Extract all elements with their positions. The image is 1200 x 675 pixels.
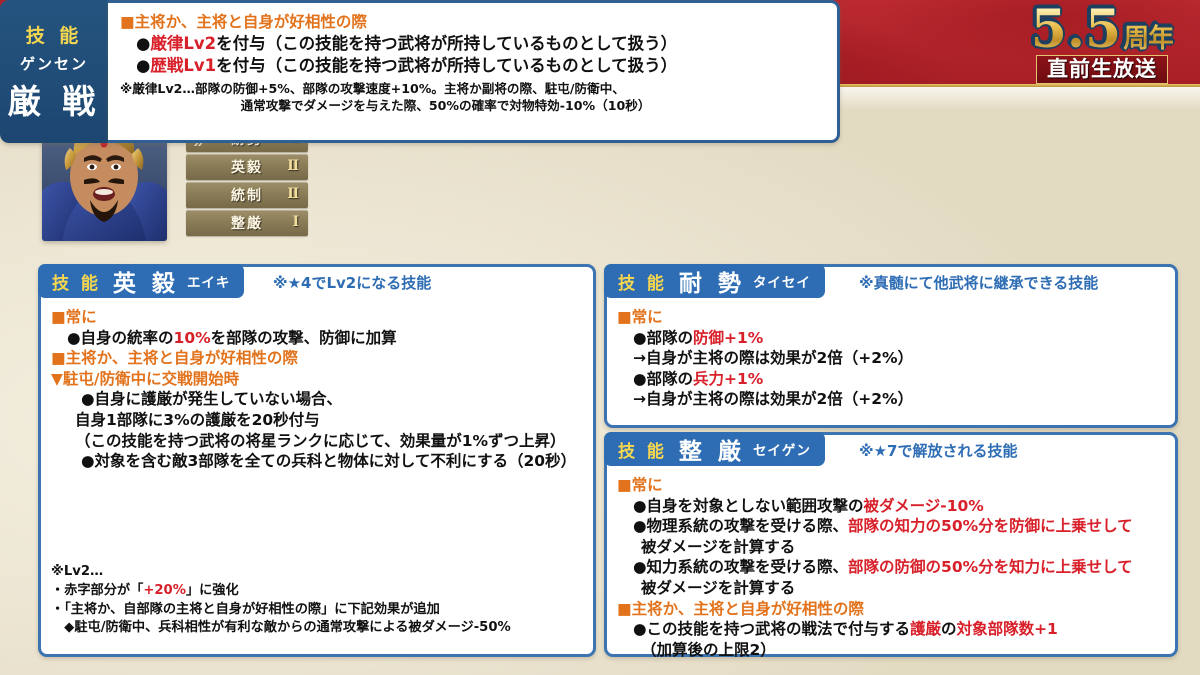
eiki-line-5: 自身1部隊に3%の護厳を20秒付与	[51, 410, 585, 431]
eiki-head: 技 能 英 毅 エイキ	[38, 264, 244, 298]
text-run: 被ダメージを計算する	[641, 579, 795, 597]
panel-taisei: 技 能 耐 勢 タイセイ ※真髄にて他武将に継承できる技能 ■常に●部隊の防御+…	[604, 264, 1178, 428]
text-run: →自身が主将の際は効果が2倍（+2%）	[633, 349, 913, 367]
text-run: ●この技能を持つ武将の戦法で付与する	[633, 620, 910, 638]
gensen-line-1: ●厳律Lv2を付与（この技能を持つ武将が所持しているものとして扱う）	[120, 33, 827, 55]
skill-level: Ⅰ	[292, 214, 300, 230]
gensen-tab-label: 技 能	[26, 21, 83, 48]
eiki-head-name: 英 毅	[113, 264, 179, 298]
panel-eiki: 技 能 英 毅 エイキ ※★4でLv2になる技能 ■常に●自身の統率の10%を部…	[38, 264, 596, 657]
text-run: ・赤字部分が「	[51, 583, 143, 598]
text-run: の	[941, 620, 957, 638]
skill-level: Ⅱ	[287, 158, 300, 174]
text-run: 自身1部隊に3%の護厳を20秒付与	[75, 411, 320, 429]
seigen-body: ■常に●自身を対象としない範囲攻撃の被ダメージ-10%●物理系統の攻撃を受ける際…	[607, 471, 1175, 660]
skill-name: 統制	[231, 185, 263, 205]
text-run: ●自身の統率の	[67, 329, 174, 347]
skill-row-5[interactable]: 整厳Ⅰ	[186, 210, 308, 236]
text-run: 被ダメージを計算する	[641, 538, 795, 556]
eiki-line-6: （この技能を持つ武将の将星ランクに応じて、効果量が1%ずつ上昇）	[51, 431, 585, 452]
text-run: ●対象を含む敵3部隊を全ての兵科と物体に対して不利にする（20秒）	[81, 452, 576, 470]
eiki-lv2-line-1: ・「主将か、自部隊の主将と自身が好相性の際」に下記効果が追加	[51, 601, 585, 620]
bullet-2: ●	[136, 56, 150, 75]
skill-name: 英毅	[231, 157, 263, 177]
seigen-line-1: ●自身を対象としない範囲攻撃の被ダメージ-10%	[617, 496, 1167, 517]
taisei-head-kana: タイセイ	[753, 271, 811, 291]
text-run: （この技能を持つ武将の将星ランクに応じて、効果量が1%ずつ上昇）	[75, 432, 566, 450]
anniversary-unit: 周年	[1123, 24, 1173, 54]
taisei-head: 技 能 耐 勢 タイセイ	[604, 264, 825, 298]
eiki-lv2-line-2: ◆駐屯/防衛中、兵科相性が有利な敵からの通常攻撃による被ダメージ-50%	[51, 619, 585, 638]
taisei-body: ■常に●部隊の防御+1%→自身が主将の際は効果が2倍（+2%）●部隊の兵力+1%…	[607, 303, 1175, 410]
eiki-heading-2: ■主将か、主将と自身が好相性の際	[51, 348, 585, 369]
text-run: ●知力系統の攻撃を受ける際、	[633, 558, 848, 576]
text-run: ●自身に護厳が発生していない場合、	[81, 390, 342, 408]
eiki-lv2-block: ※Lv2…・赤字部分が「+20%」に強化・「主将か、自部隊の主将と自身が好相性の…	[41, 559, 593, 638]
gensen-name: 厳 戦	[8, 75, 101, 123]
taisei-head-name: 耐 勢	[679, 264, 745, 298]
anniversary-logo: 5.5周年 直前生放送	[1012, 2, 1192, 107]
text-run: ●自身を対象としない範囲攻撃の	[633, 497, 864, 515]
seigen-line-3: 被ダメージを計算する	[617, 537, 1167, 558]
keyword-highlight: 10%	[174, 329, 211, 347]
text-run: ・「主将か、自部隊の主将と自身が好相性の際」に下記効果が追加	[51, 602, 440, 617]
anniversary-number: 5.5	[1031, 0, 1121, 60]
eiki-body: ■常に●自身の統率の10%を部隊の攻撃、防御に加算■主将か、主将と自身が好相性の…	[41, 303, 593, 472]
text-run: 」に強化	[186, 583, 239, 598]
text-run: ●物理系統の攻撃を受ける際、	[633, 517, 848, 535]
gensen-note-1: ※厳律Lv2…部隊の防御+5%、部隊の攻撃速度+10%。主将か副将の際、駐屯/防…	[120, 81, 827, 98]
eiki-heading-0: ■常に	[51, 307, 585, 328]
keyword-highlight: 部隊の防御の50%分を知力に上乗せして	[848, 558, 1133, 576]
text-run: （加算後の上限2）	[641, 641, 776, 659]
keyword-highlight: 部隊の知力の50%分を防御に上乗せして	[848, 517, 1133, 535]
eiki-head-label: 技 能	[52, 269, 101, 294]
text-run: ◆駐屯/防衛中、兵科相性が有利な敵からの通常攻撃による被ダメージ-50%	[51, 620, 511, 635]
seigen-line-4: ●知力系統の攻撃を受ける際、部隊の防御の50%分を知力に上乗せして	[617, 557, 1167, 578]
taisei-heading-0: ■常に	[617, 307, 1167, 328]
eiki-note: ※★4でLv2になる技能	[273, 272, 431, 293]
seigen-head-label: 技 能	[618, 437, 667, 462]
taisei-line-3: ●部隊の兵力+1%	[617, 369, 1167, 390]
seigen-line-2: ●物理系統の攻撃を受ける際、部隊の知力の50%分を防御に上乗せして	[617, 516, 1167, 537]
seigen-heading-0: ■常に	[617, 475, 1167, 496]
taisei-note: ※真髄にて他武将に継承できる技能	[859, 272, 1098, 293]
keyword-highlight: 護厳	[910, 620, 941, 638]
keyword-highlight: 兵力+1%	[693, 370, 763, 388]
eiki-heading-3: ▼駐屯/防衛中に交戦開始時	[51, 369, 585, 390]
eiki-lv2-title: ※Lv2…	[51, 563, 585, 582]
bullet-1: ●	[136, 34, 150, 53]
taisei-line-4: →自身が主将の際は効果が2倍（+2%）	[617, 389, 1167, 410]
seigen-head-kana: セイゲン	[753, 439, 811, 459]
skill-row-4[interactable]: 統制Ⅱ	[186, 182, 308, 208]
seigen-line-5: 被ダメージを計算する	[617, 578, 1167, 599]
text-run: を部隊の攻撃、防御に加算	[211, 329, 397, 347]
keyword-highlight: 被ダメージ-10%	[864, 497, 984, 515]
keyword-highlight: 防御+1%	[693, 329, 763, 347]
skill-name: 整厳	[231, 213, 263, 233]
gensen-line-2-keyword: 歴戦Lv1	[150, 56, 216, 75]
anniversary-number-label: 5.5周年	[1031, 4, 1173, 56]
text-run: →自身が主将の際は効果が2倍（+2%）	[633, 390, 913, 408]
gensen-heading: ■主将か、主将と自身が好相性の際	[120, 12, 827, 33]
skill-row-3[interactable]: 英毅Ⅱ	[186, 154, 308, 180]
gensen-body: ■主将か、主将と自身が好相性の際 ●厳律Lv2を付与（この技能を持つ武将が所持し…	[108, 0, 840, 143]
seigen-note: ※★7で解放される技能	[859, 440, 1017, 461]
seigen-heading-6: ■主将か、主将と自身が好相性の際	[617, 599, 1167, 620]
skill-level: Ⅱ	[287, 186, 300, 202]
taisei-head-label: 技 能	[618, 269, 667, 294]
keyword-highlight: +20%	[143, 583, 186, 598]
eiki-line-1: ●自身の統率の10%を部隊の攻撃、防御に加算	[51, 328, 585, 349]
text-run: ●部隊の	[633, 329, 693, 347]
seigen-head: 技 能 整 厳 セイゲン	[604, 432, 825, 466]
eiki-head-kana: エイキ	[187, 271, 231, 291]
taisei-line-1: ●部隊の防御+1%	[617, 328, 1167, 349]
text-run: ●部隊の	[633, 370, 693, 388]
eiki-line-7: ●対象を含む敵3部隊を全ての兵科と物体に対して不利にする（20秒）	[51, 451, 585, 472]
gensen-line-1-keyword: 厳律Lv2	[150, 34, 216, 53]
eiki-line-4: ●自身に護厳が発生していない場合、	[51, 389, 585, 410]
seigen-line-7: ●この技能を持つ武将の戦法で付与する護厳の対象部隊数+1	[617, 619, 1167, 640]
gensen-line-1-text: を付与（この技能を持つ武将が所持しているものとして扱う）	[216, 34, 677, 53]
gensen-tab: 技 能 ゲンセン 厳 戦	[0, 0, 108, 143]
gensen-line-2-text: を付与（この技能を持つ武将が所持しているものとして扱う）	[216, 56, 677, 75]
eiki-lv2-line-0: ・赤字部分が「+20%」に強化	[51, 582, 585, 601]
gensen-note-2: 通常攻撃でダメージを与えた際、50%の確率で対物特効-10%（10秒）	[120, 98, 827, 115]
seigen-line-8: （加算後の上限2）	[617, 640, 1167, 661]
panel-gensen: 技 能 ゲンセン 厳 戦 ■主将か、主将と自身が好相性の際 ●厳律Lv2を付与（…	[0, 0, 840, 143]
keyword-highlight: 対象部隊数+1	[957, 620, 1058, 638]
taisei-line-2: →自身が主将の際は効果が2倍（+2%）	[617, 348, 1167, 369]
gensen-kana: ゲンセン	[20, 53, 88, 74]
gensen-line-2: ●歴戦Lv1を付与（この技能を持つ武将が所持しているものとして扱う）	[120, 55, 827, 77]
seigen-head-name: 整 厳	[679, 432, 745, 466]
panel-seigen: 技 能 整 厳 セイゲン ※★7で解放される技能 ■常に●自身を対象としない範囲…	[604, 432, 1178, 657]
